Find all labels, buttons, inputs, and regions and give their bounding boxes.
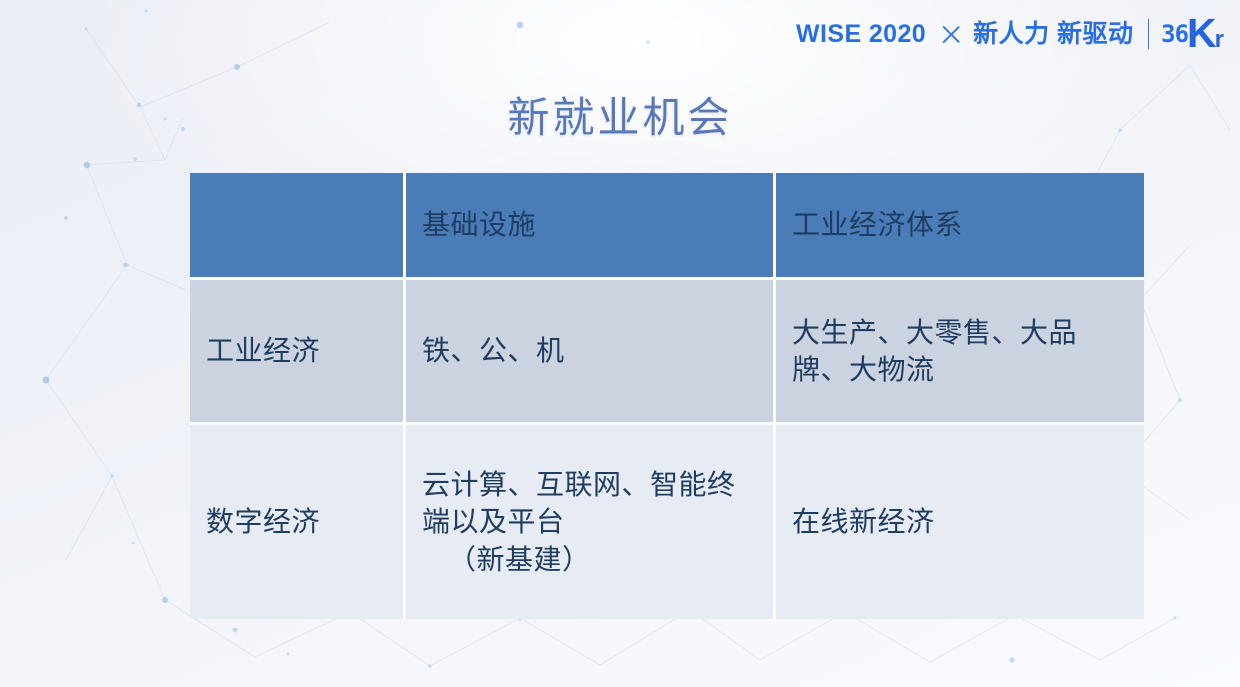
slide-canvas: WISE 2020 新人力 新驱动 36 Kr 新就业机会 基础设施 工业经济体… bbox=[0, 0, 1240, 687]
table-row-digital-economy: 数字经济 云计算、互联网、智能终端以及平台 （新基建） 在线新经济 bbox=[190, 425, 1144, 619]
header-cell-industrial-system: 工业经济体系 bbox=[776, 173, 1144, 280]
cell-digital-infrastructure: 云计算、互联网、智能终端以及平台 （新基建） bbox=[406, 425, 776, 619]
page-title: 新就业机会 bbox=[0, 84, 1240, 145]
table-row-industrial-economy: 工业经济 铁、公、机 大生产、大零售、大品牌、大物流 bbox=[190, 280, 1144, 425]
cell-industrial-infrastructure: 铁、公、机 bbox=[406, 280, 776, 425]
table-header: 基础设施 工业经济体系 bbox=[190, 173, 1144, 280]
brand-wise-label: WISE 2020 bbox=[796, 22, 926, 47]
cell-digital-infrastructure-note: （新基建） bbox=[422, 541, 757, 578]
times-icon bbox=[939, 23, 962, 46]
cell-industrial-system: 大生产、大零售、大品牌、大物流 bbox=[776, 280, 1144, 425]
row-label-digital-economy: 数字经济 bbox=[190, 425, 406, 619]
table-body: 工业经济 铁、公、机 大生产、大零售、大品牌、大物流 数字经济 云计算、互联网、… bbox=[190, 280, 1144, 619]
header-cell-corner bbox=[190, 173, 406, 280]
brand-divider bbox=[1148, 19, 1150, 49]
brand-bar: WISE 2020 新人力 新驱动 36 Kr bbox=[796, 14, 1222, 54]
row-label-industrial-economy: 工业经济 bbox=[190, 280, 406, 425]
logo-k-letter: K bbox=[1187, 10, 1215, 56]
opportunity-matrix-table: 基础设施 工业经济体系 工业经济 铁、公、机 大生产、大零售、大品牌、大物流 数… bbox=[190, 173, 1144, 619]
36kr-logo: 36 Kr bbox=[1161, 17, 1222, 51]
cell-digital-infrastructure-text: 云计算、互联网、智能终端以及平台 bbox=[422, 469, 736, 537]
logo-r-letter: r bbox=[1215, 26, 1222, 53]
header-cell-infrastructure: 基础设施 bbox=[406, 173, 776, 280]
brand-slogan-label: 新人力 新驱动 bbox=[973, 22, 1133, 47]
logo-36-text: 36 bbox=[1161, 22, 1188, 46]
table-header-row: 基础设施 工业经济体系 bbox=[190, 173, 1144, 280]
logo-kr-text: Kr bbox=[1187, 17, 1222, 51]
cell-digital-system: 在线新经济 bbox=[776, 425, 1144, 619]
